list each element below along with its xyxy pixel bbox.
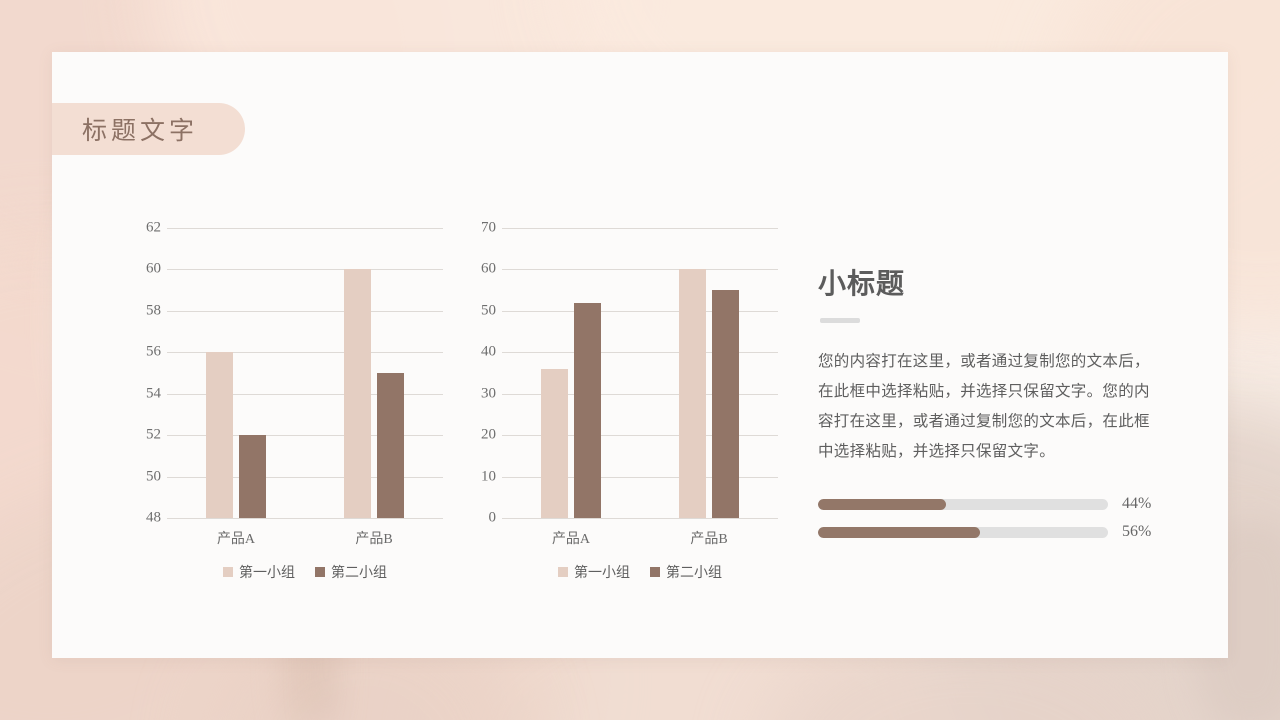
legend-swatch-icon — [315, 567, 325, 577]
bar-chart-right: 010203040506070产品A产品B第一小组第二小组 — [468, 228, 778, 518]
y-tick-label: 60 — [481, 261, 496, 278]
bar-groups — [167, 228, 443, 518]
bar — [574, 303, 601, 518]
legend-label: 第二小组 — [666, 562, 722, 582]
bar-group — [305, 228, 443, 518]
progress-bar-list: 44%56% — [818, 490, 1163, 546]
y-tick-label: 54 — [146, 385, 161, 402]
panel-body-text: 您的内容打在这里，或者通过复制您的文本后，在此框中选择粘贴，并选择只保留文字。您… — [818, 347, 1163, 467]
panel-heading: 小标题 — [818, 262, 1163, 302]
legend-label: 第一小组 — [574, 562, 630, 582]
bar — [679, 269, 706, 518]
x-tick-label: 产品B — [640, 518, 778, 548]
y-tick-label: 48 — [146, 510, 161, 527]
heading-divider — [820, 318, 860, 323]
chart-legend: 第一小组第二小组 — [167, 562, 443, 582]
bar — [344, 269, 371, 518]
x-tick-label: 产品A — [167, 518, 305, 548]
y-axis-ticks: 010203040506070 — [468, 228, 502, 518]
legend-item[interactable]: 第二小组 — [650, 562, 722, 582]
legend-label: 第二小组 — [331, 562, 387, 582]
bar — [541, 369, 568, 518]
y-tick-label: 58 — [146, 302, 161, 319]
progress-value-label: 56% — [1122, 523, 1151, 541]
bar-chart-left: 4850525456586062产品A产品B第一小组第二小组 — [133, 228, 443, 518]
plot-area: 4850525456586062 — [133, 228, 443, 518]
y-tick-label: 10 — [481, 468, 496, 485]
y-tick-label: 62 — [146, 220, 161, 237]
text-panel: 小标题 您的内容打在这里，或者通过复制您的文本后，在此框中选择粘贴，并选择只保留… — [818, 262, 1163, 467]
y-axis-ticks: 4850525456586062 — [133, 228, 167, 518]
progress-fill — [818, 527, 980, 538]
legend-swatch-icon — [558, 567, 568, 577]
bar — [239, 435, 266, 518]
progress-track — [818, 499, 1108, 510]
x-tick-label: 产品B — [305, 518, 443, 548]
slide-root: 标题文字 4850525456586062产品A产品B第一小组第二小组 0102… — [0, 0, 1280, 720]
y-tick-label: 40 — [481, 344, 496, 361]
x-tick-label: 产品A — [502, 518, 640, 548]
bar-groups — [502, 228, 778, 518]
bar-group — [167, 228, 305, 518]
progress-row: 44% — [818, 490, 1163, 518]
legend-item[interactable]: 第二小组 — [315, 562, 387, 582]
y-tick-label: 0 — [489, 510, 497, 527]
bar — [377, 373, 404, 518]
progress-track — [818, 527, 1108, 538]
bar-group — [502, 228, 640, 518]
chart-legend: 第一小组第二小组 — [502, 562, 778, 582]
y-tick-label: 56 — [146, 344, 161, 361]
y-tick-label: 20 — [481, 427, 496, 444]
legend-swatch-icon — [650, 567, 660, 577]
bar — [712, 290, 739, 518]
bar — [206, 352, 233, 518]
title-badge: 标题文字 — [52, 103, 245, 155]
legend-swatch-icon — [223, 567, 233, 577]
plot-area: 010203040506070 — [468, 228, 778, 518]
y-tick-label: 50 — [146, 468, 161, 485]
legend-item[interactable]: 第一小组 — [558, 562, 630, 582]
progress-fill — [818, 499, 946, 510]
bar-group — [640, 228, 778, 518]
page-title: 标题文字 — [82, 111, 198, 147]
y-tick-label: 50 — [481, 302, 496, 319]
y-tick-label: 70 — [481, 220, 496, 237]
x-axis-labels: 产品A产品B — [167, 518, 443, 548]
y-tick-label: 60 — [146, 261, 161, 278]
y-tick-label: 30 — [481, 385, 496, 402]
legend-label: 第一小组 — [239, 562, 295, 582]
progress-row: 56% — [818, 518, 1163, 546]
x-axis-labels: 产品A产品B — [502, 518, 778, 548]
y-tick-label: 52 — [146, 427, 161, 444]
legend-item[interactable]: 第一小组 — [223, 562, 295, 582]
progress-value-label: 44% — [1122, 495, 1151, 513]
